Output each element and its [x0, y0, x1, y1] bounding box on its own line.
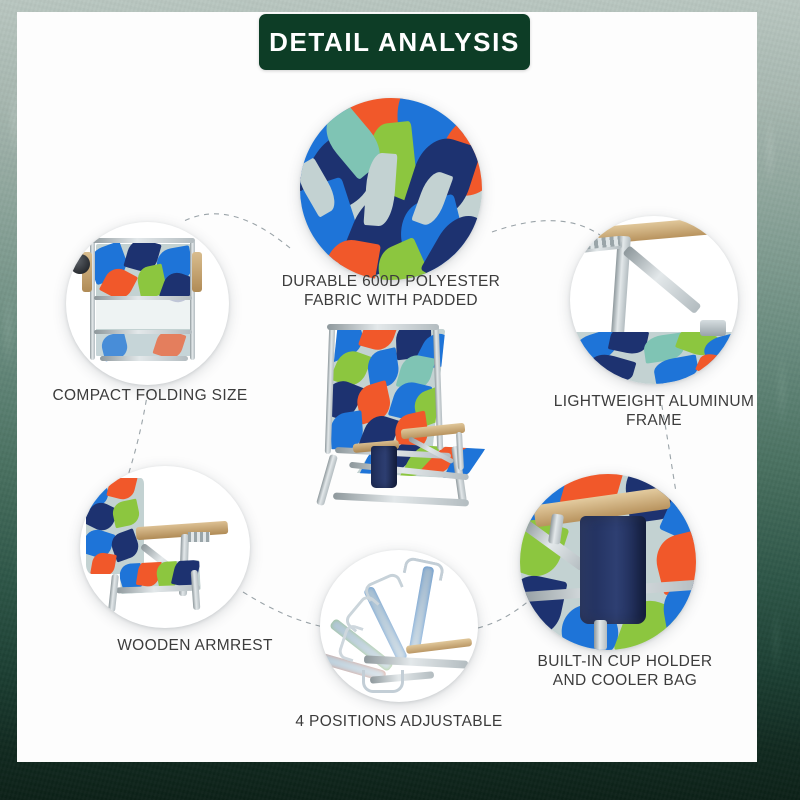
feature-fabric-label: DURABLE 600D POLYESTER FABRIC WITH PADDE…	[271, 272, 511, 310]
product-hero-image	[305, 318, 505, 518]
infographic-canvas: DETAIL ANALYSIS	[0, 0, 800, 800]
recline-positions-icon	[320, 550, 478, 702]
cooler-bag-icon	[520, 474, 696, 650]
feature-cupholder-label: BUILT-IN CUP HOLDER AND COOLER BAG	[505, 652, 745, 690]
aluminum-frame-icon	[570, 216, 738, 384]
folded-chair-icon	[66, 222, 229, 385]
page-title: DETAIL ANALYSIS	[269, 27, 520, 58]
feature-frame-label: LIGHTWEIGHT ALUMINUM FRAME	[534, 392, 774, 430]
wooden-armrest-icon	[80, 466, 250, 628]
feature-folding-label: COMPACT FOLDING SIZE	[35, 386, 265, 405]
feature-armrest-label: WOODEN ARMREST	[80, 636, 310, 655]
feature-positions-label: 4 POSITIONS ADJUSTABLE	[279, 712, 519, 731]
fabric-swatch-icon	[300, 98, 482, 280]
page-title-banner: DETAIL ANALYSIS	[259, 14, 530, 70]
